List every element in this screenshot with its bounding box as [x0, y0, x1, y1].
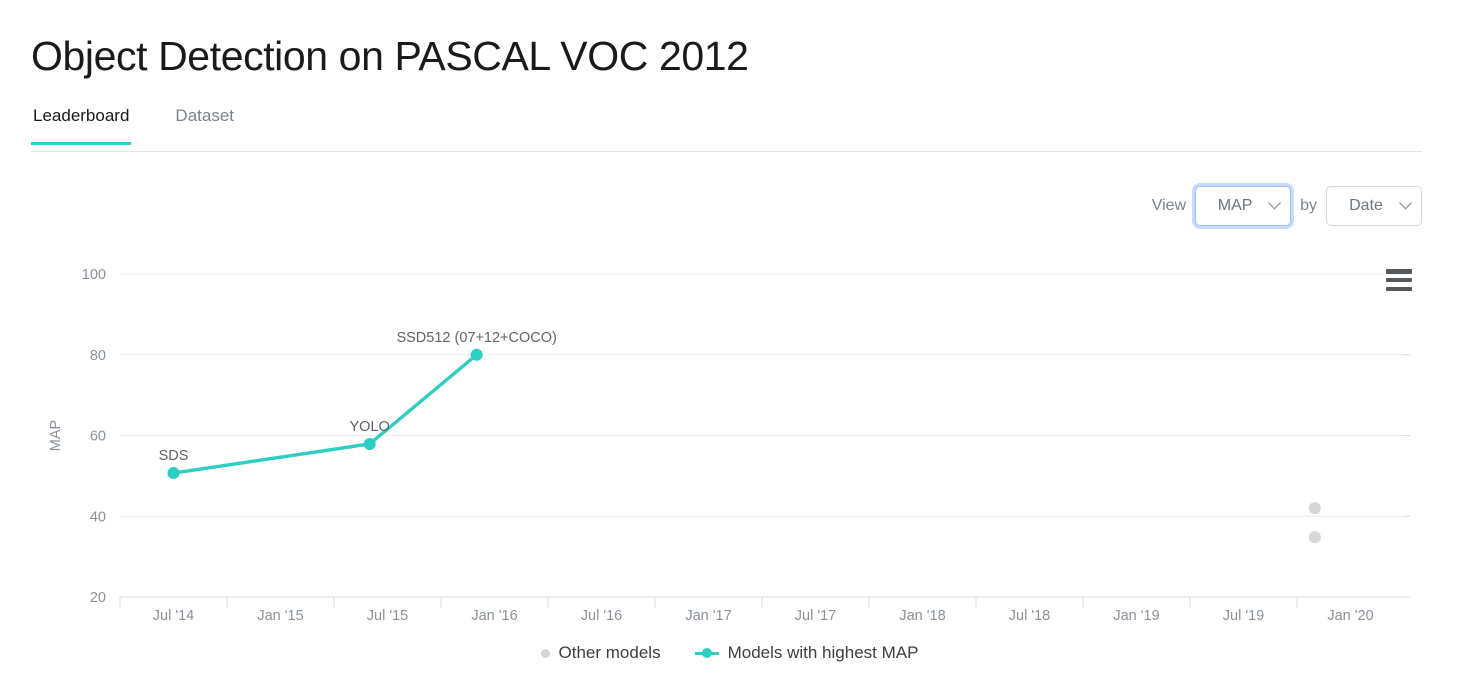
axis-select[interactable]: Date — [1326, 186, 1422, 226]
legend-label-other-models: Other models — [559, 643, 661, 663]
page-title: Object Detection on PASCAL VOC 2012 — [31, 33, 749, 80]
metric-select[interactable]: MAP — [1195, 186, 1291, 226]
svg-text:Jan '19: Jan '19 — [1113, 608, 1159, 624]
menu-bar-2 — [1386, 278, 1412, 283]
menu-bar-3 — [1386, 287, 1412, 292]
by-label: by — [1300, 197, 1317, 215]
legend-line-icon — [695, 652, 719, 655]
menu-bar-1 — [1386, 269, 1412, 274]
chart-controls: View MAP by Date — [1152, 186, 1422, 226]
svg-text:MAP: MAP — [48, 420, 64, 451]
svg-text:Jul '17: Jul '17 — [795, 608, 836, 624]
svg-text:60: 60 — [90, 429, 106, 445]
legend-item-other-models[interactable]: Other models — [541, 643, 661, 663]
svg-text:SDS: SDS — [159, 448, 189, 464]
svg-text:Jan '15: Jan '15 — [257, 608, 303, 624]
legend-item-highest-map[interactable]: Models with highest MAP — [695, 643, 919, 663]
legend-dot-icon — [541, 649, 550, 658]
svg-text:SSD512 (07+12+COCO): SSD512 (07+12+COCO) — [396, 330, 556, 346]
svg-text:Jul '15: Jul '15 — [367, 608, 408, 624]
svg-text:Jul '16: Jul '16 — [581, 608, 622, 624]
svg-text:Jan '20: Jan '20 — [1327, 608, 1373, 624]
svg-text:YOLO: YOLO — [350, 419, 390, 435]
metric-select-value: MAP — [1218, 197, 1253, 215]
svg-text:100: 100 — [82, 267, 106, 283]
svg-text:Jan '17: Jan '17 — [685, 608, 731, 624]
svg-text:Jul '18: Jul '18 — [1009, 608, 1050, 624]
tab-leaderboard[interactable]: Leaderboard — [31, 100, 131, 144]
chart-legend: Other models Models with highest MAP — [0, 643, 1459, 663]
svg-text:20: 20 — [90, 590, 106, 606]
svg-text:Jan '18: Jan '18 — [899, 608, 945, 624]
hamburger-menu-icon[interactable] — [1386, 269, 1412, 291]
map-over-time-line-chart: 20406080100MAPJul '14Jan '15Jul '15Jan '… — [0, 240, 1459, 640]
chart-container: 20406080100MAPJul '14Jan '15Jul '15Jan '… — [0, 240, 1459, 680]
legend-label-highest-map: Models with highest MAP — [728, 643, 919, 663]
leaderboard-page: Object Detection on PASCAL VOC 2012 Lead… — [0, 0, 1459, 697]
chevron-down-icon — [1268, 197, 1281, 210]
tab-dataset[interactable]: Dataset — [173, 100, 236, 144]
tab-bar: Leaderboard Dataset — [31, 100, 1422, 152]
svg-text:Jul '14: Jul '14 — [153, 608, 194, 624]
svg-text:80: 80 — [90, 348, 106, 364]
axis-select-value: Date — [1349, 197, 1383, 215]
view-label: View — [1152, 197, 1186, 215]
svg-text:Jul '19: Jul '19 — [1223, 608, 1264, 624]
chevron-down-icon — [1399, 197, 1412, 210]
svg-text:40: 40 — [90, 509, 106, 525]
svg-text:Jan '16: Jan '16 — [471, 608, 517, 624]
